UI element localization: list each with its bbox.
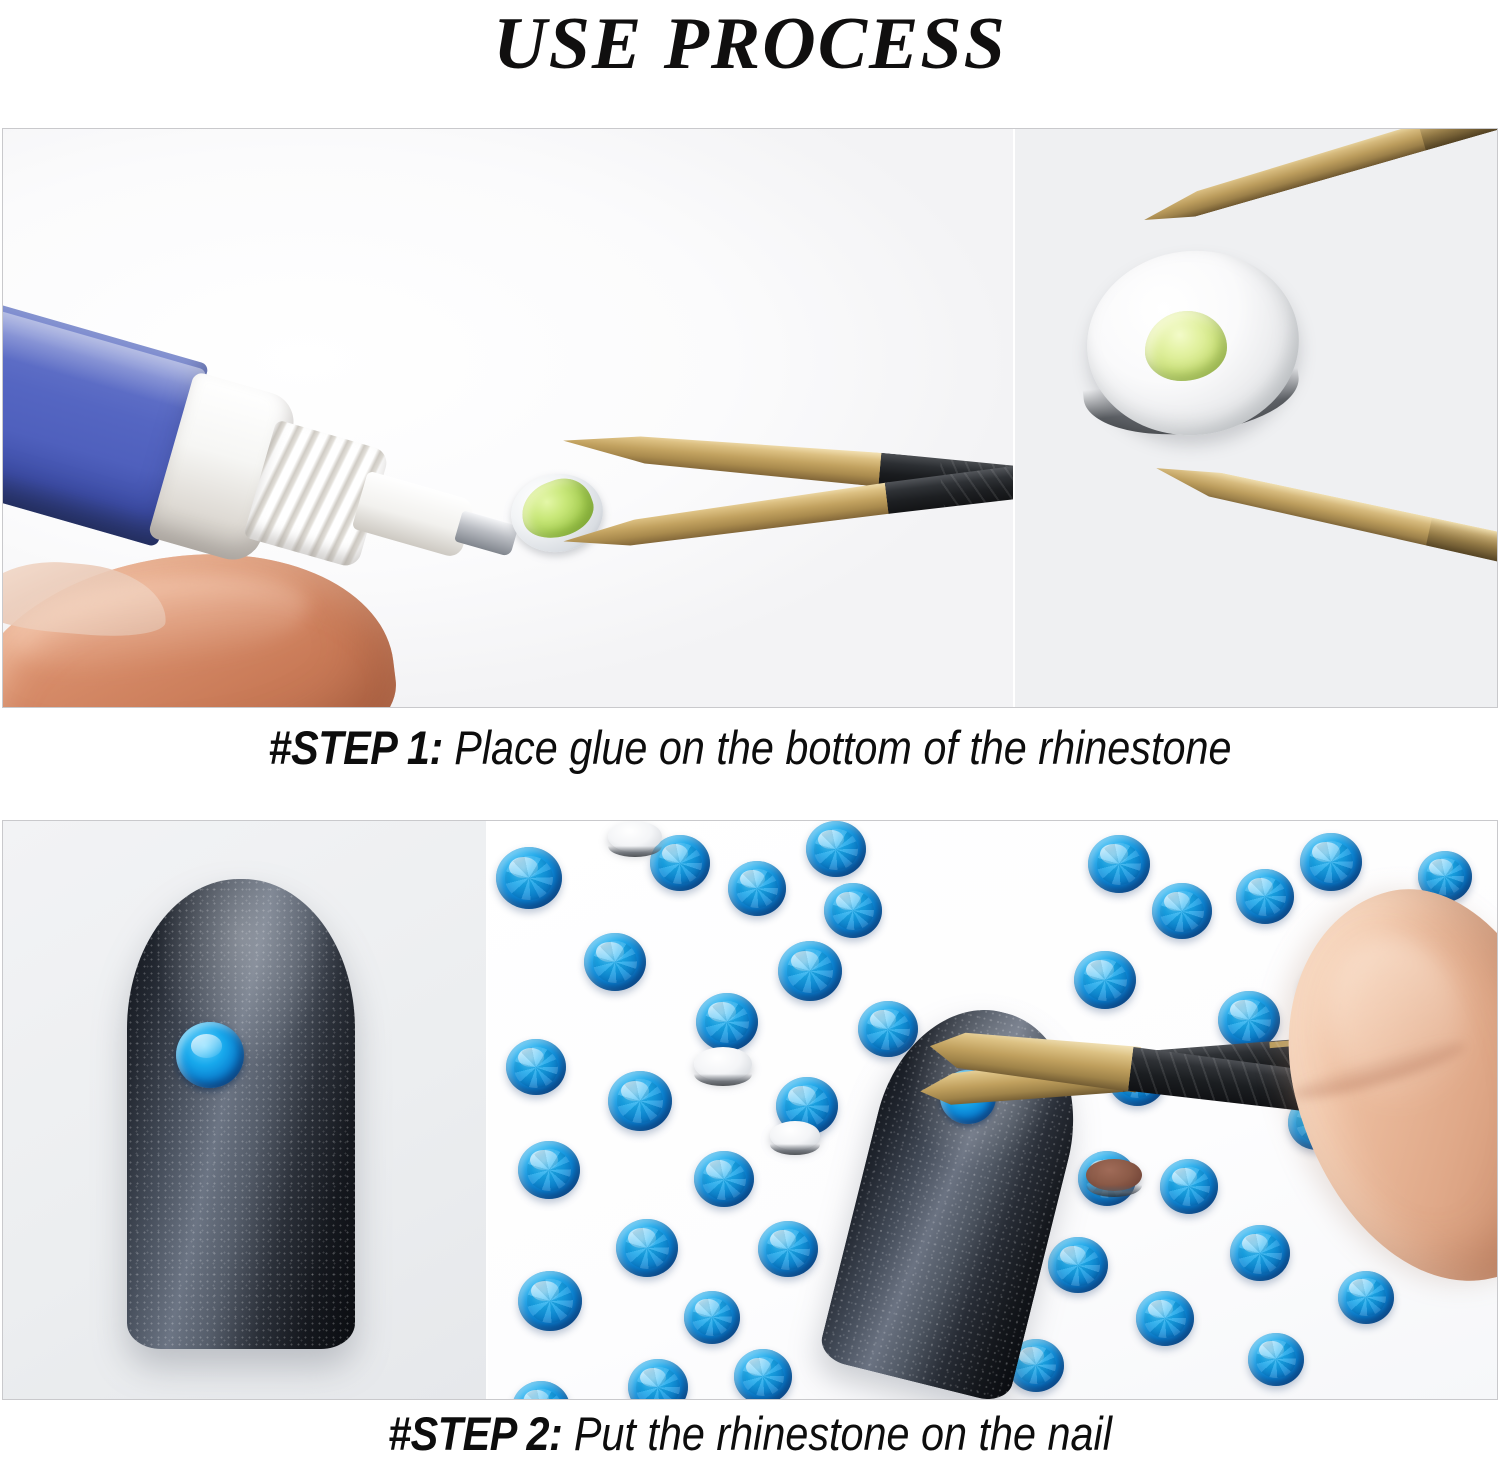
- rhinestone: [806, 821, 866, 877]
- photo-applying-rhinestone-to-nail: [486, 821, 1497, 1399]
- rhinestone: [584, 933, 646, 991]
- rhinestone: [734, 1349, 792, 1399]
- tweezer-gold-tip: [562, 425, 884, 487]
- rhinestone: [1088, 835, 1150, 893]
- rhinestone: [1152, 883, 1212, 939]
- rhinestone: [518, 1271, 582, 1331]
- fingernail: [3, 555, 170, 641]
- rhinestone: [778, 941, 842, 1001]
- tweezer-gold-tip: [561, 481, 893, 555]
- rhinestone: [728, 861, 786, 916]
- rhinestone: [496, 847, 562, 909]
- step-1-caption: #STEP 1: Place glue on the bottom of the…: [90, 718, 1410, 778]
- tweezers-lower-arm: [1152, 459, 1497, 574]
- rhinestone: [694, 1151, 754, 1207]
- rhinestone: [608, 1071, 672, 1131]
- rhinestone-back-white: [770, 1121, 820, 1150]
- step-2-label: #STEP 2:: [388, 1407, 562, 1460]
- rhinestone-back-white: [694, 1047, 752, 1081]
- rhinestone: [512, 1381, 570, 1399]
- photo-glue-applied-to-rhinestone: GLRH: [3, 129, 1013, 707]
- rhinestone: [616, 1219, 678, 1277]
- tweezer-shadow: [1426, 518, 1497, 574]
- rhinestone: [518, 1141, 580, 1199]
- rhinestone-back-brown: [1086, 1159, 1142, 1191]
- rhinestone-back-white: [608, 821, 662, 852]
- rhinestone: [1338, 1271, 1394, 1324]
- rhinestone: [506, 1039, 566, 1095]
- step-2-photo-row: [2, 820, 1498, 1400]
- rhinestone: [1074, 951, 1136, 1009]
- step-2-caption: #STEP 2: Put the rhinestone on the nail: [90, 1404, 1410, 1464]
- page-title: USE PROCESS: [0, 0, 1500, 92]
- step-2-text: Put the rhinestone on the nail: [562, 1407, 1112, 1460]
- rhinestone: [628, 1359, 688, 1399]
- rhinestone: [1136, 1291, 1194, 1346]
- rhinestone: [1230, 1225, 1290, 1281]
- tweezers-upper-arm: [1139, 129, 1497, 230]
- rhinestone: [684, 1291, 740, 1344]
- glue-nozzle-metal-tip: [454, 510, 519, 557]
- rhinestone: [824, 883, 882, 938]
- infographic-page: USE PROCESS GLRH: [0, 0, 1500, 1466]
- rhinestone: [758, 1221, 818, 1277]
- applied-rhinestone: [176, 1022, 244, 1088]
- rhinestone: [1236, 869, 1294, 924]
- step-1-label: #STEP 1:: [269, 721, 443, 774]
- rhinestone: [1248, 1333, 1304, 1386]
- rhinestone: [1300, 833, 1362, 891]
- step-1-photo-row: GLRH: [2, 128, 1498, 708]
- photo-rhinestone-flat-back-with-glue: [1013, 129, 1497, 707]
- glue-bottle-nozzle: [352, 471, 476, 560]
- glue-bottle-label: GLRH: [3, 276, 42, 571]
- rhinestone: [696, 993, 758, 1051]
- photo-finished-nail-with-rhinestone: [3, 821, 486, 1399]
- step-1-text: Place glue on the bottom of the rhinesto…: [443, 721, 1232, 774]
- press-on-nail-tip: [127, 879, 355, 1349]
- rhinestone: [1048, 1237, 1108, 1293]
- tweezer-shadow: [1418, 129, 1497, 150]
- rhinestone: [1160, 1159, 1218, 1214]
